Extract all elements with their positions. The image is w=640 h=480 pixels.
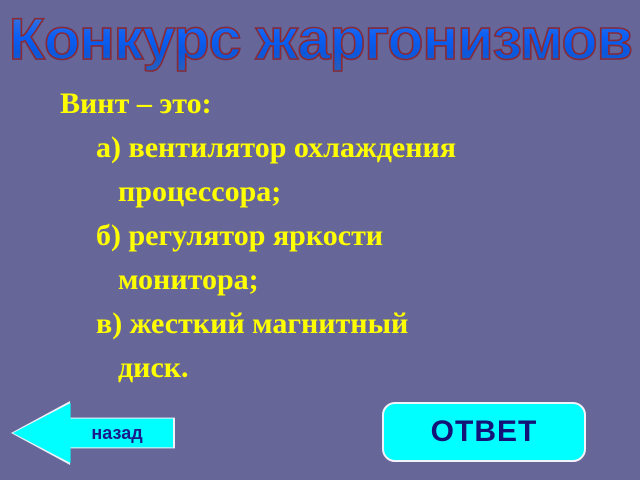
answer-option-b-continuation: монитора; [118,258,580,302]
answer-button-label: ОТВЕТ [431,415,538,449]
answer-option-a-continuation: процессора; [118,170,580,214]
back-button[interactable]: назад [13,403,173,463]
page-title: Конкурс жаргонизмов [8,8,631,72]
back-button-label: назад [65,403,169,463]
answer-option-b: б) регулятор яркости [96,214,580,258]
slide-body: Винт – это: а) вентилятор охлаждения про… [60,82,580,390]
answer-option-v-continuation: диск. [118,346,580,390]
answer-option-a: а) вентилятор охлаждения [96,126,580,170]
slide-title-container: Конкурс жаргонизмов [0,8,640,74]
presentation-slide: Конкурс жаргонизмов Винт – это: а) венти… [0,0,640,480]
answer-button[interactable]: ОТВЕТ [382,402,586,462]
question-lead: Винт – это: [60,82,580,126]
answer-option-v: в) жесткий магнитный [96,302,580,346]
